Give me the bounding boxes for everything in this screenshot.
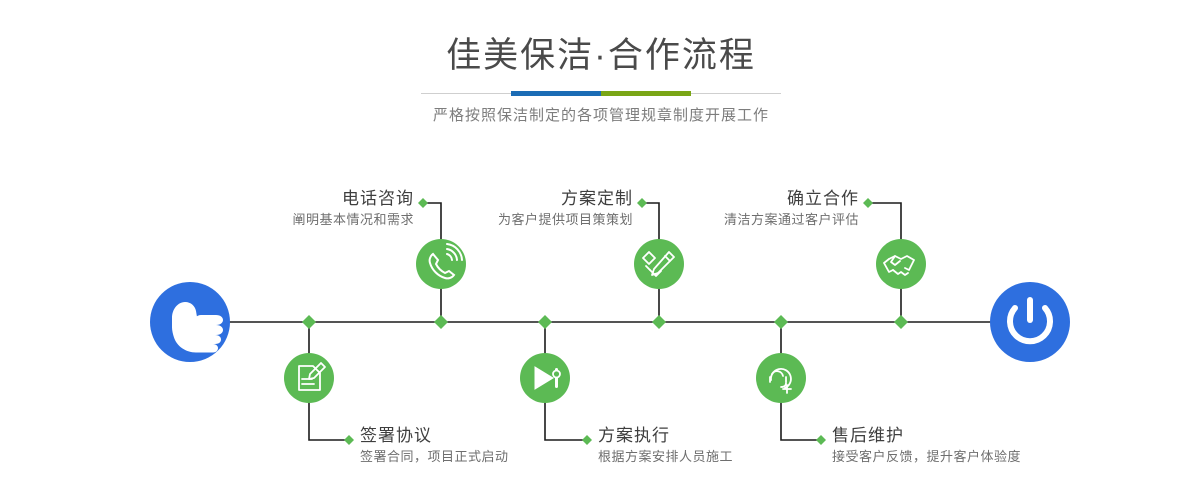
step-icon-circle-6 xyxy=(876,239,926,289)
step-icon-6 xyxy=(876,239,926,289)
step-icon-1 xyxy=(416,239,466,289)
flow-infographic: 佳美保洁·合作流程 严格按照保洁制定的各项管理规章制度开展工作 xyxy=(0,0,1202,502)
end-node xyxy=(990,282,1070,362)
step-icon-4 xyxy=(520,353,570,403)
step-icon-circle-5 xyxy=(756,353,806,403)
step-title-5: 售后维护 xyxy=(832,425,1132,447)
axis-diamond-4 xyxy=(652,315,666,329)
axis-diamond-5 xyxy=(774,315,788,329)
step-icon-5 xyxy=(756,353,806,403)
label-diamond-step-2 xyxy=(344,435,354,445)
process-timeline: 电话咨询 阐明基本情况和需求 方案定制 为客户提供项目策策划 确立合作 清洁方案… xyxy=(0,0,1202,502)
start-node xyxy=(150,282,230,362)
step-label-3: 方案定制 为客户提供项目策策划 xyxy=(373,188,633,229)
label-diamond-step-6 xyxy=(863,198,873,208)
axis-diamond-2 xyxy=(434,315,448,329)
axis-diamond-6 xyxy=(894,315,908,329)
step-desc-3: 为客户提供项目策策划 xyxy=(373,210,633,229)
step-icon-3 xyxy=(634,239,684,289)
step-desc-5: 接受客户反馈，提升客户体验度 xyxy=(832,447,1132,466)
axis-diamond-3 xyxy=(538,315,552,329)
step-title-3: 方案定制 xyxy=(373,188,633,210)
step-title-6: 确立合作 xyxy=(600,188,859,210)
step-label-6: 确立合作 清洁方案通过客户评估 xyxy=(600,188,859,229)
step-icon-circle-1 xyxy=(416,239,466,289)
step-label-5: 售后维护 接受客户反馈，提升客户体验度 xyxy=(832,425,1132,466)
step-icon-2 xyxy=(284,353,334,403)
axis-diamond-1 xyxy=(302,315,316,329)
step-desc-6: 清洁方案通过客户评估 xyxy=(600,210,859,229)
